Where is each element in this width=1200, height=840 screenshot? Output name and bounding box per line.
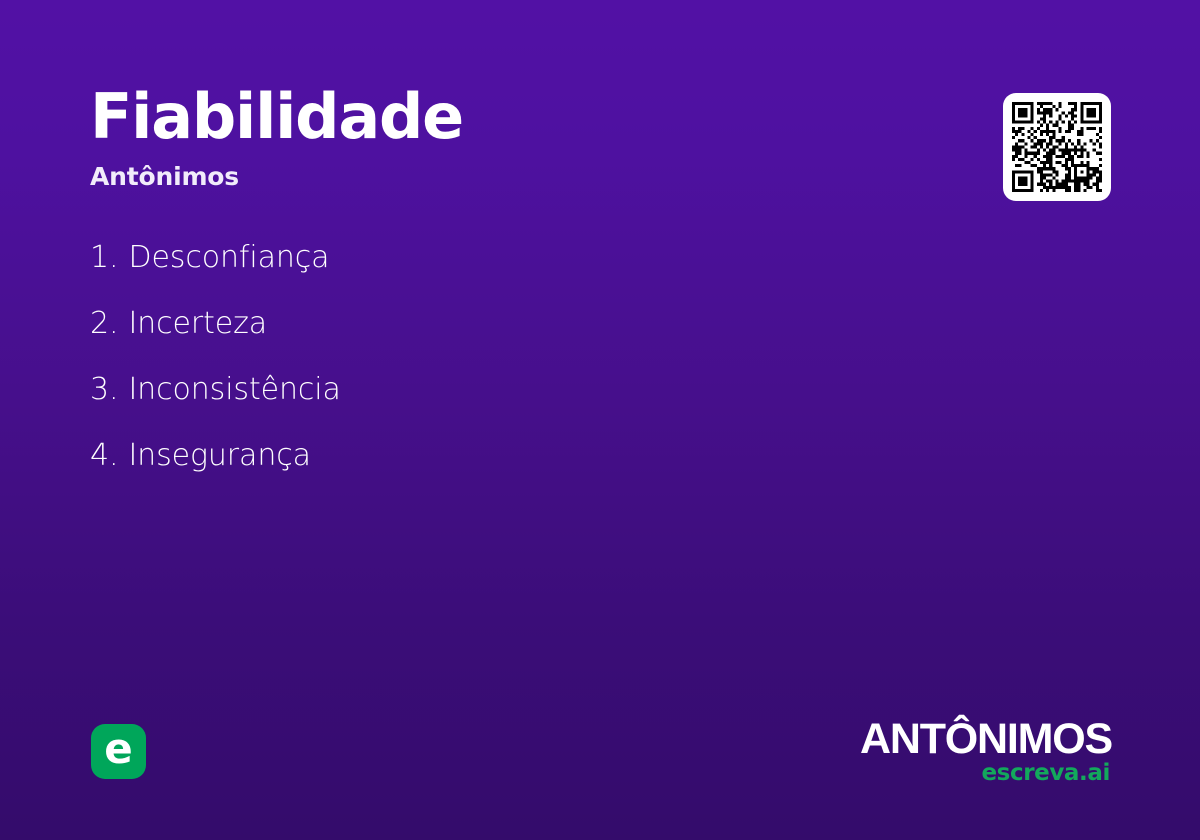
antonym-index: 1. — [90, 240, 118, 275]
brand-badge[interactable]: e — [91, 724, 146, 779]
page-subtitle: Antônimos — [90, 162, 850, 191]
antonym-item: 2.Incerteza — [90, 306, 890, 372]
antonym-item: 3.Inconsistência — [90, 372, 890, 438]
antonym-item: 4.Insegurança — [90, 438, 890, 504]
antonym-word: Inconsistência — [128, 372, 340, 407]
brand-wordmark: ANTÔNIMOS escreva.ai — [860, 718, 1112, 785]
brand-badge-letter: e — [104, 728, 133, 770]
antonym-word: Incerteza — [128, 306, 267, 341]
qr-code-icon — [1012, 102, 1102, 192]
card-header: Fiabilidade Antônimos — [90, 86, 850, 191]
page-title: Fiabilidade — [90, 86, 850, 148]
wordmark-title: ANTÔNIMOS — [860, 718, 1112, 760]
antonym-list: 1.Desconfiança2.Incerteza3.Inconsistênci… — [90, 240, 890, 504]
antonym-word: Insegurança — [128, 438, 310, 473]
antonym-index: 4. — [90, 438, 118, 473]
antonym-index: 3. — [90, 372, 118, 407]
antonym-word: Desconfiança — [128, 240, 329, 275]
antonym-index: 2. — [90, 306, 118, 341]
wordmark-domain: escreva.ai — [860, 762, 1110, 785]
antonyms-card: Fiabilidade Antônimos 1.Desconfiança2.In… — [0, 0, 1200, 840]
qr-code[interactable] — [1003, 93, 1111, 201]
antonym-item: 1.Desconfiança — [90, 240, 890, 306]
